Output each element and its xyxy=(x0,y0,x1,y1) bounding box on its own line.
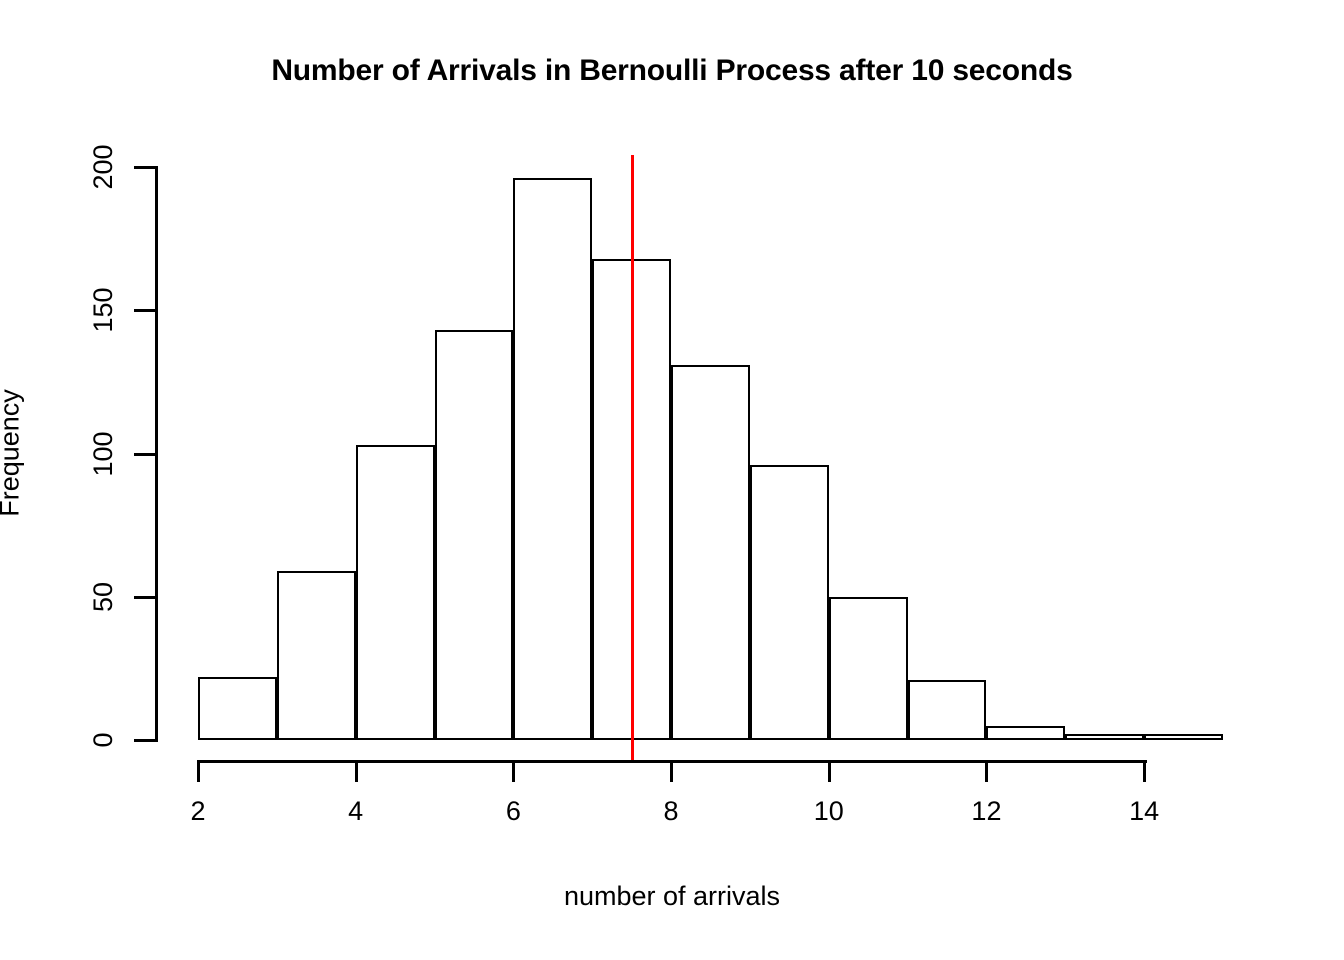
histogram-plot: Number of Arrivals in Bernoulli Process … xyxy=(0,0,1344,960)
y-axis-tick xyxy=(134,739,156,742)
histogram-bar xyxy=(513,178,592,740)
x-axis-tick-label: 14 xyxy=(1129,798,1159,825)
x-axis-tick xyxy=(512,760,515,782)
y-axis-tick-label-text: 100 xyxy=(91,431,115,476)
y-axis-label-text: Frequency xyxy=(0,389,24,517)
x-axis-tick-label: 10 xyxy=(814,798,844,825)
y-axis-tick-label-text: 150 xyxy=(91,288,115,333)
y-axis-tick-label-text: 200 xyxy=(91,144,115,189)
histogram-bar xyxy=(1144,734,1223,740)
histogram-bar xyxy=(435,330,514,740)
histogram-bar xyxy=(986,726,1065,740)
y-axis-tick-label-text: 50 xyxy=(91,582,115,612)
y-axis-tick xyxy=(134,309,156,312)
x-axis-tick xyxy=(355,760,358,782)
histogram-bar xyxy=(671,365,750,740)
histogram-bar xyxy=(908,680,987,740)
x-axis-tick xyxy=(197,760,200,782)
x-axis-label: number of arrivals xyxy=(0,883,1344,910)
histogram-bar xyxy=(356,445,435,740)
y-axis-tick-label-text: 0 xyxy=(91,732,115,747)
x-axis-tick xyxy=(1143,760,1146,782)
mean-reference-line xyxy=(631,155,634,762)
y-axis-tick xyxy=(134,596,156,599)
x-axis-tick xyxy=(828,760,831,782)
histogram-bar xyxy=(198,677,277,740)
y-axis-tick xyxy=(134,166,156,169)
plot-area xyxy=(198,167,1223,740)
histogram-bar xyxy=(750,465,829,740)
histogram-bar xyxy=(1065,734,1144,740)
x-axis-tick xyxy=(985,760,988,782)
x-axis-tick-label: 2 xyxy=(190,798,205,825)
y-axis-tick xyxy=(134,453,156,456)
x-axis-tick xyxy=(670,760,673,782)
x-axis-tick-label: 12 xyxy=(971,798,1001,825)
histogram-bar xyxy=(277,571,356,740)
x-axis-tick-label: 6 xyxy=(506,798,521,825)
chart-title: Number of Arrivals in Bernoulli Process … xyxy=(0,56,1344,86)
x-axis-tick-label: 8 xyxy=(664,798,679,825)
histogram-bar xyxy=(829,597,908,740)
x-axis-tick-label: 4 xyxy=(348,798,363,825)
